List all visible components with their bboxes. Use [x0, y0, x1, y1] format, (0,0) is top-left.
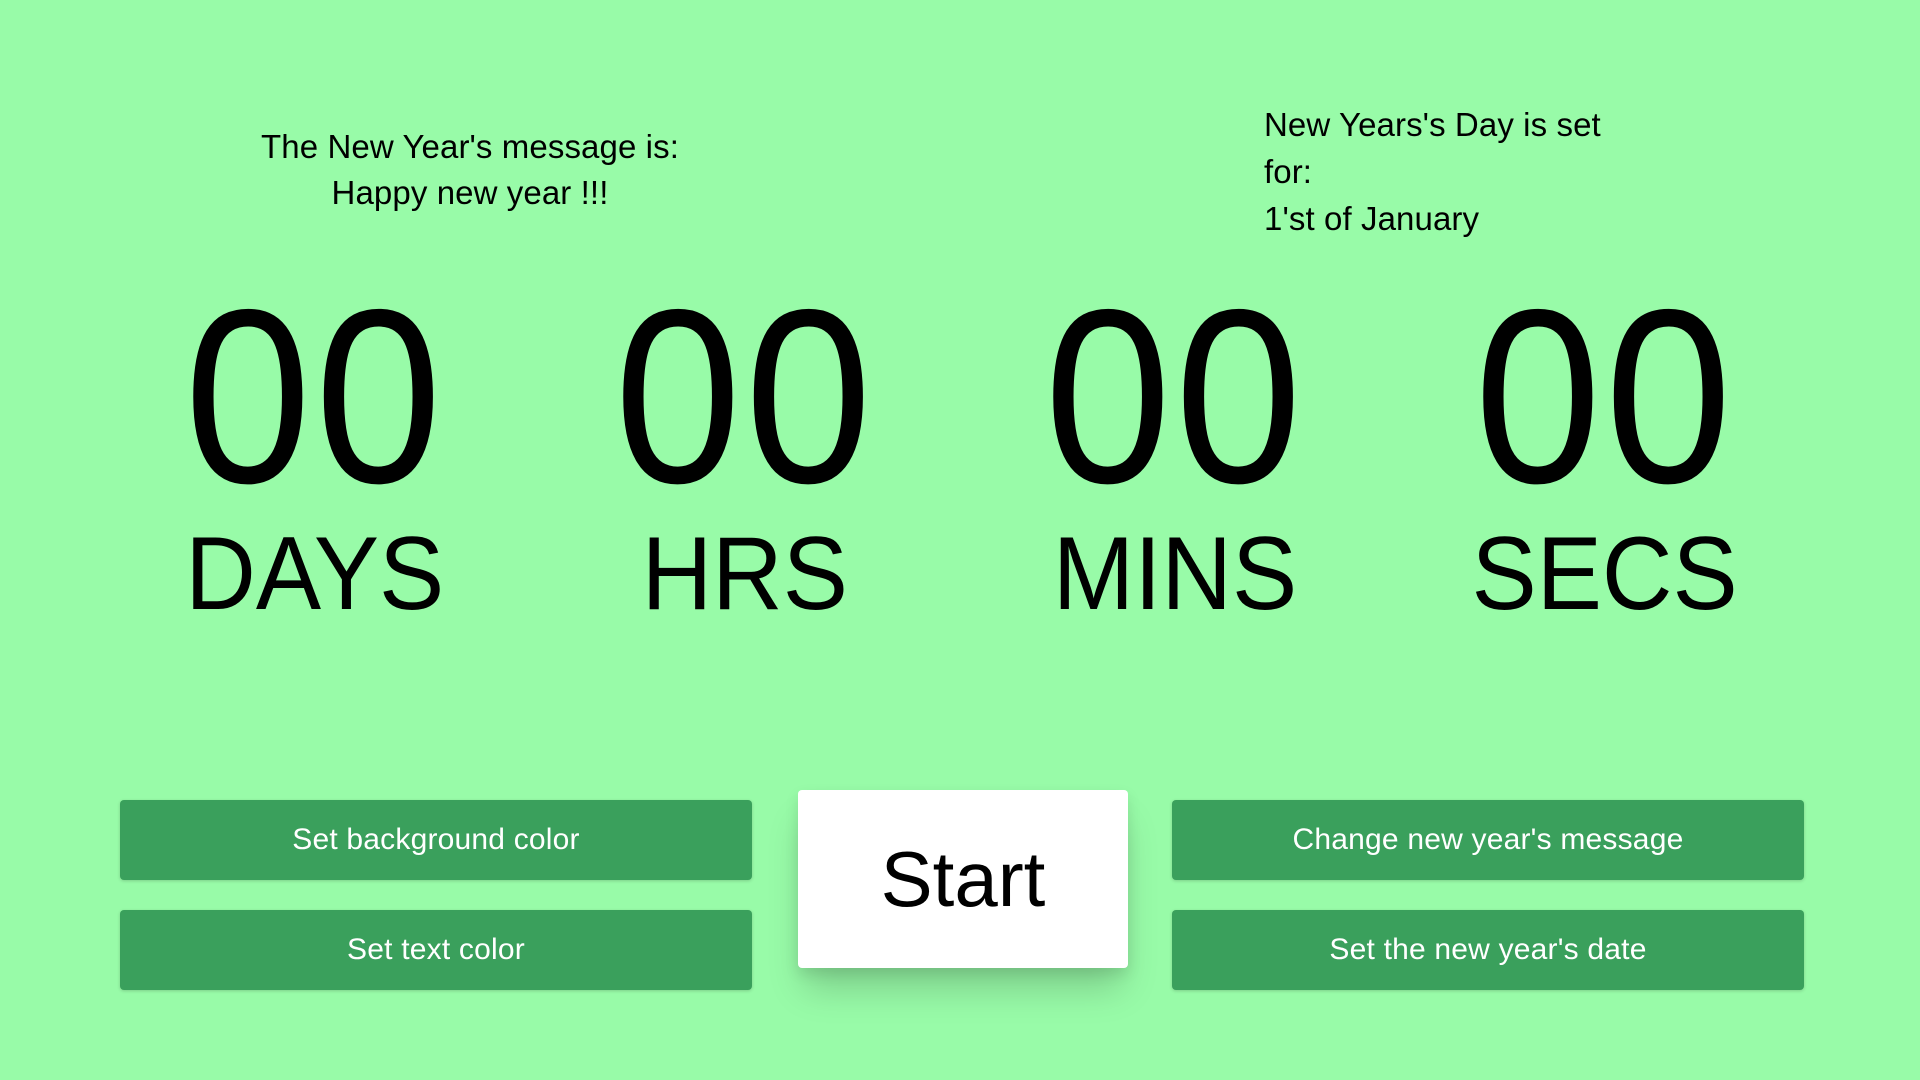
countdown-unit-seconds: 00 SECS: [1390, 280, 1820, 628]
countdown-unit-minutes: 00 MINS: [960, 280, 1390, 628]
countdown-hours-value: 00: [614, 280, 875, 512]
countdown-seconds-value: 00: [1474, 280, 1735, 512]
countdown-seconds-label: SECS: [1472, 520, 1738, 628]
set-background-color-button[interactable]: Set background color: [120, 800, 752, 880]
start-button-wrapper: Start: [798, 790, 1128, 1040]
set-text-color-button[interactable]: Set text color: [120, 910, 752, 990]
new-year-date-label-line1: New Years's Day is set: [1264, 101, 1694, 148]
countdown-hours-label: HRS: [642, 520, 848, 628]
change-new-years-message-button[interactable]: Change new year's message: [1172, 800, 1804, 880]
controls-right-column: Change new year's message Set the new ye…: [1172, 800, 1804, 990]
new-year-message-label: The New Year's message is:: [150, 124, 790, 170]
countdown-minutes-label: MINS: [1053, 520, 1297, 628]
countdown-minutes-value: 00: [1044, 280, 1305, 512]
countdown-timer: 00 DAYS 00 HRS 00 MINS 00 SECS: [0, 280, 1920, 700]
new-year-date-block: New Years's Day is set for: 1'st of Janu…: [1264, 101, 1694, 242]
set-new-years-date-button[interactable]: Set the new year's date: [1172, 910, 1804, 990]
countdown-days-label: DAYS: [186, 520, 445, 628]
new-year-date-value: 1'st of January: [1264, 195, 1694, 242]
countdown-unit-days: 00 DAYS: [100, 280, 530, 628]
controls-left-column: Set background color Set text color: [120, 800, 752, 990]
new-year-date-label-line2: for:: [1264, 148, 1694, 195]
info-row: The New Year's message is: Happy new yea…: [0, 0, 1920, 250]
countdown-app: The New Year's message is: Happy new yea…: [0, 0, 1920, 1080]
countdown-unit-hours: 00 HRS: [530, 280, 960, 628]
start-button[interactable]: Start: [798, 790, 1128, 968]
new-year-message-value: Happy new year !!!: [150, 170, 790, 216]
new-year-message-block: The New Year's message is: Happy new yea…: [150, 124, 790, 216]
controls-row: Set background color Set text color Star…: [0, 790, 1920, 1040]
countdown-days-value: 00: [184, 280, 445, 512]
